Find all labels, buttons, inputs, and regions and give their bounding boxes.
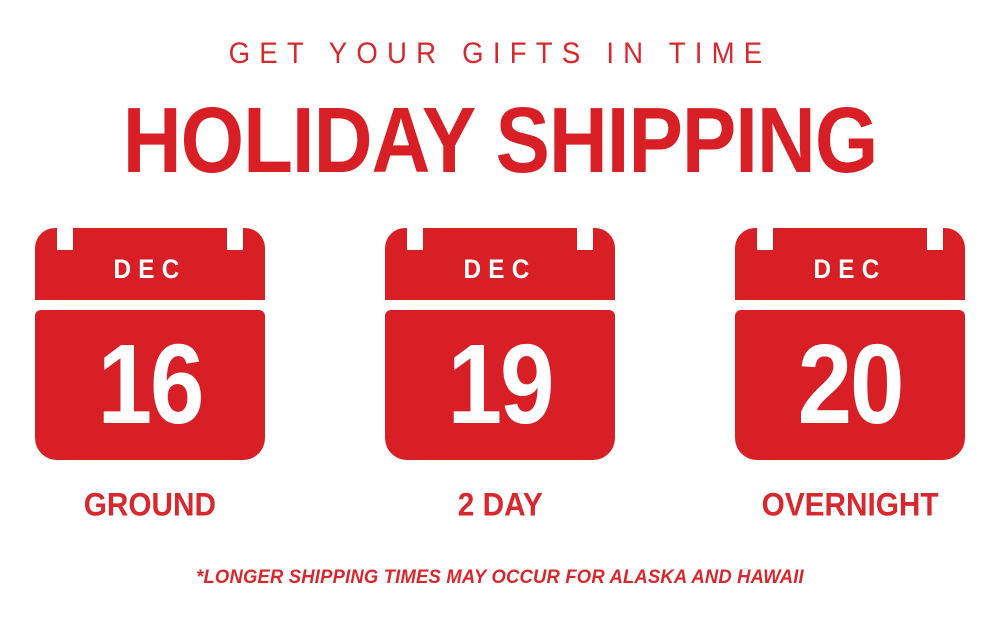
calendar-month-label: DEC (397, 254, 604, 284)
calendar-header-band: DEC (735, 228, 965, 300)
disclaimer-footnote: *LONGER SHIPPING TIMES MAY OCCUR FOR ALA… (15, 566, 985, 590)
shipping-label-ground-text: GROUND (84, 486, 216, 524)
shipping-option-ground: DEC 16 (35, 228, 265, 460)
calendar-month-label: DEC (47, 254, 254, 284)
calendar-day-number: 16 (33, 328, 268, 441)
shipping-label-2day: 2 DAY (385, 487, 615, 527)
calendar-body: 20 (735, 310, 965, 460)
calendar-icon: DEC 20 (735, 228, 965, 460)
calendar-notch-right-icon (577, 228, 593, 250)
calendar-header-band: DEC (385, 228, 615, 300)
page-title: HOLIDAY SHIPPING (0, 92, 1000, 189)
calendar-day-number: 19 (383, 328, 618, 441)
calendar-body: 19 (385, 310, 615, 460)
calendar-notch-left-icon (57, 228, 73, 250)
holiday-shipping-poster: GET YOUR GIFTS IN TIME HOLIDAY SHIPPING … (0, 0, 1000, 629)
tagline: GET YOUR GIFTS IN TIME (40, 36, 960, 72)
calendar-icon: DEC 19 (385, 228, 615, 460)
shipping-option-2day: DEC 19 (385, 228, 615, 460)
shipping-label-ground: GROUND (35, 487, 265, 527)
shipping-labels-row: GROUND 2 DAY OVERNIGHT (35, 487, 965, 527)
shipping-label-overnight-text: OVERNIGHT (762, 486, 939, 524)
calendar-notch-right-icon (927, 228, 943, 250)
shipping-label-2day-text: 2 DAY (458, 486, 543, 524)
calendar-notch-left-icon (407, 228, 423, 250)
calendar-icon: DEC 16 (35, 228, 265, 460)
calendar-notch-right-icon (227, 228, 243, 250)
calendar-day-number: 20 (733, 328, 968, 441)
shipping-label-overnight: OVERNIGHT (735, 487, 965, 527)
shipping-option-overnight: DEC 20 (735, 228, 965, 460)
calendar-body: 16 (35, 310, 265, 460)
calendar-month-label: DEC (747, 254, 954, 284)
calendar-header-band: DEC (35, 228, 265, 300)
calendar-notch-left-icon (757, 228, 773, 250)
shipping-deadlines-row: DEC 16 DEC 19 (35, 228, 965, 460)
